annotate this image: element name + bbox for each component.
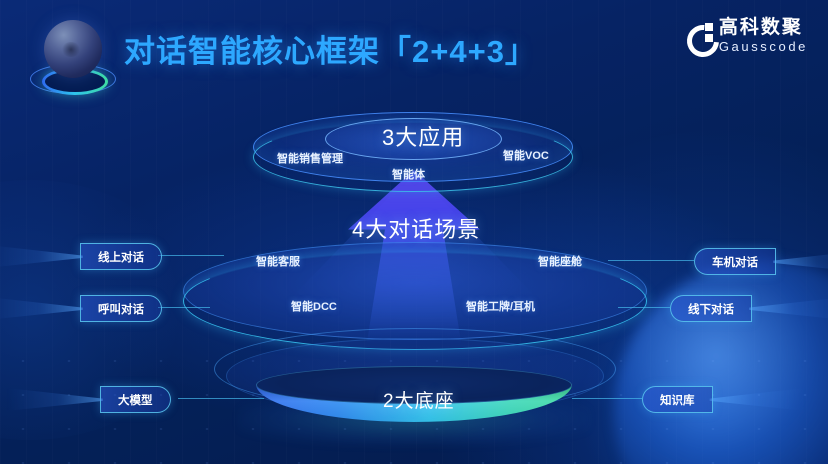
- logo-name-en: Gausscode: [719, 40, 808, 53]
- pill-streak-icon: [0, 297, 83, 320]
- middle-layer-item-service: 智能客服: [256, 253, 300, 269]
- middle-layer-title: 4大对话场景: [352, 212, 480, 244]
- pill-knowledge-base[interactable]: 知识库: [642, 386, 713, 413]
- pill-streak-icon: [710, 388, 806, 411]
- pill-streak-icon: [7, 388, 103, 411]
- pill-invehicle-dialogue[interactable]: 车机对话: [694, 248, 776, 275]
- gausscode-mark-icon: [687, 23, 713, 49]
- agent-label: 智能体: [392, 166, 425, 182]
- pill-streak-icon: [0, 245, 83, 268]
- connector-right-top: [608, 260, 694, 261]
- base-layer-title: 2大底座: [383, 386, 455, 413]
- pill-label: 线下对话: [688, 301, 734, 317]
- page-title: 对话智能核心框架「2+4+3」: [124, 26, 537, 71]
- top-layer-title: 3大应用: [382, 120, 464, 152]
- pill-streak-icon: [773, 250, 828, 273]
- slide-header: 对话智能核心框架「2+4+3」 高科数聚 Gausscode: [0, 0, 828, 104]
- connector-right-bottom: [572, 398, 642, 399]
- slide-canvas: 对话智能核心框架「2+4+3」 高科数聚 Gausscode 3大应用 智能销售…: [0, 0, 828, 464]
- middle-layer-item-cockpit: 智能座舱: [538, 253, 582, 269]
- connector-left-mid: [158, 307, 210, 308]
- pill-streak-icon: [749, 297, 828, 320]
- connector-left-top: [158, 255, 224, 256]
- middle-layer-item-badge: 智能工牌/耳机: [466, 298, 535, 314]
- top-layer-item-voc: 智能VOC: [503, 147, 549, 163]
- pill-label: 线上对话: [98, 249, 144, 265]
- pill-large-model[interactable]: 大模型: [100, 386, 171, 413]
- sphere-orb-icon: [30, 16, 114, 98]
- pill-offline-dialogue[interactable]: 线下对话: [670, 295, 752, 322]
- connector-right-mid: [618, 307, 670, 308]
- top-layer-item-sales: 智能销售管理: [277, 150, 343, 166]
- pill-label: 车机对话: [712, 254, 758, 270]
- pill-label: 知识库: [660, 392, 695, 408]
- pill-call-dialogue[interactable]: 呼叫对话: [80, 295, 162, 322]
- pill-label: 呼叫对话: [98, 301, 144, 317]
- connector-left-bottom: [178, 398, 264, 399]
- middle-layer-item-dcc: 智能DCC: [291, 298, 337, 314]
- pill-label: 大模型: [118, 392, 153, 408]
- orb-ball-icon: [44, 20, 102, 78]
- company-logo: 高科数聚 Gausscode: [687, 18, 808, 53]
- logo-name-cn: 高科数聚: [719, 18, 808, 37]
- pill-online-dialogue[interactable]: 线上对话: [80, 243, 162, 270]
